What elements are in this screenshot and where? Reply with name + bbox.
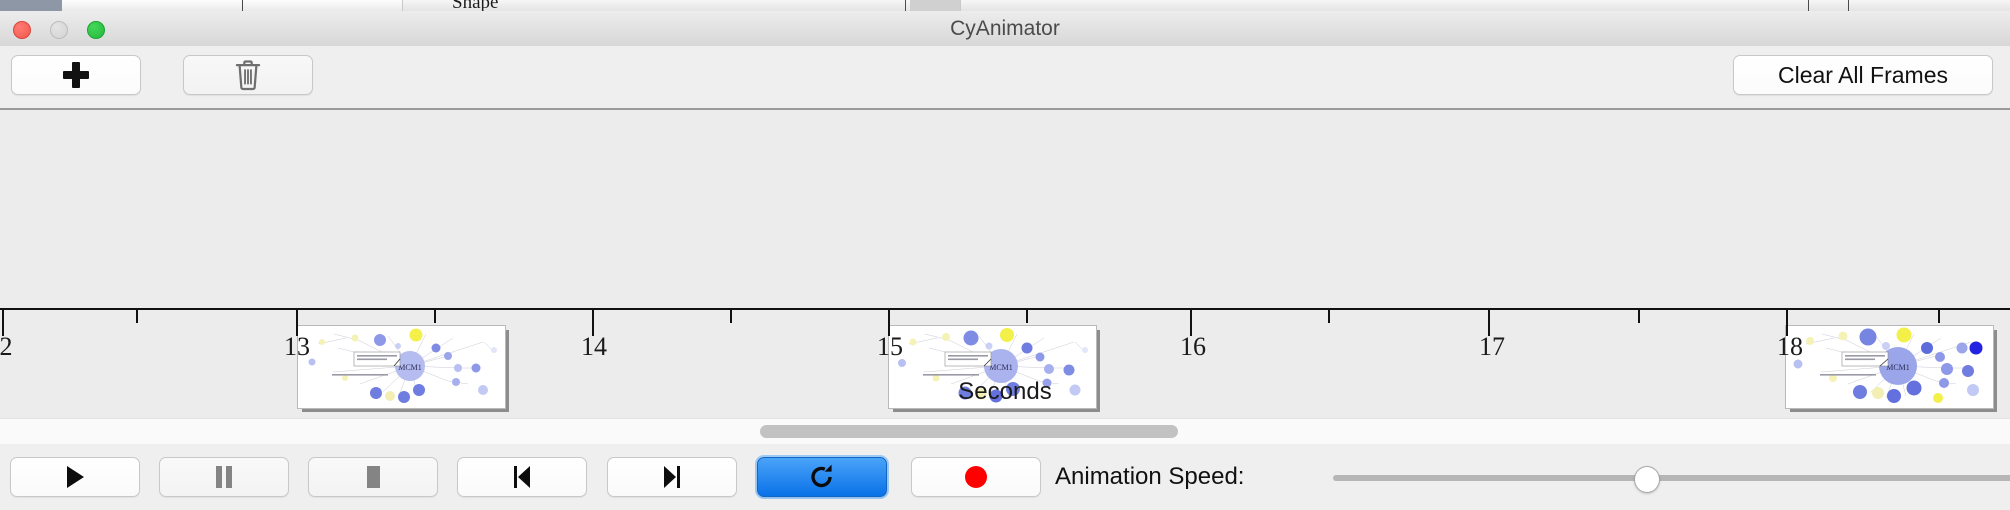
- delete-frame-button[interactable]: [183, 55, 313, 95]
- axis-tick-minor: [1026, 310, 1028, 323]
- loop-button[interactable]: [757, 457, 887, 497]
- axis-tick-minor: [1328, 310, 1330, 323]
- background-window-strip: Shape: [0, 0, 2010, 11]
- axis-label-16: 16: [1180, 332, 1206, 362]
- add-frame-button[interactable]: [11, 55, 141, 95]
- timeline-canvas[interactable]: MCM1: [0, 110, 2010, 419]
- axis-tick-minor: [434, 310, 436, 323]
- axis-tick-minor: [136, 310, 138, 323]
- animation-speed-slider[interactable]: [1333, 475, 2010, 481]
- axis-label-13: 13: [284, 332, 310, 362]
- svg-text:MCM1: MCM1: [398, 363, 422, 372]
- window-title: CyAnimator: [0, 11, 2010, 46]
- trash-icon: [233, 59, 263, 91]
- animation-speed-label: Animation Speed:: [1055, 457, 1244, 497]
- svg-text:MCM1: MCM1: [1886, 363, 1910, 372]
- stop-icon: [362, 464, 384, 490]
- axis-tick-minor: [1638, 310, 1640, 323]
- play-icon: [63, 464, 87, 490]
- skip-forward-icon: [660, 464, 684, 490]
- axis-label-15: 15: [877, 332, 903, 362]
- axis-label-18: 18: [1777, 332, 1803, 362]
- clear-all-frames-button[interactable]: Clear All Frames: [1733, 55, 1993, 95]
- pause-button[interactable]: [159, 457, 289, 497]
- loop-icon: [809, 463, 835, 491]
- axis-label-12: 2: [0, 332, 13, 362]
- skip-to-end-button[interactable]: [607, 457, 737, 497]
- svg-text:MCM1: MCM1: [989, 363, 1013, 372]
- timeline-scrollbar-thumb[interactable]: [760, 425, 1178, 438]
- cyanimator-window: Shape CyAnimator Clear All Frames: [0, 0, 2010, 510]
- record-icon: [963, 464, 989, 490]
- axis-tick-minor: [730, 310, 732, 323]
- clear-all-frames-label: Clear All Frames: [1778, 62, 1948, 89]
- skip-back-icon: [510, 464, 534, 490]
- slider-thumb[interactable]: [1634, 466, 1660, 493]
- play-button[interactable]: [10, 457, 140, 497]
- axis-title: Seconds: [0, 378, 2010, 406]
- axis-label-17: 17: [1479, 332, 1505, 362]
- axis-label-14: 14: [581, 332, 607, 362]
- timeline-axis: [0, 308, 2010, 310]
- skip-to-start-button[interactable]: [457, 457, 587, 497]
- title-bar: CyAnimator: [0, 11, 2010, 47]
- stop-button[interactable]: [308, 457, 438, 497]
- timeline-scrollbar[interactable]: [0, 418, 2010, 446]
- axis-tick-minor: [1938, 310, 1940, 323]
- slider-track: [1333, 475, 2010, 481]
- record-button[interactable]: [911, 457, 1041, 497]
- pause-icon: [213, 464, 235, 490]
- background-window-dark-panel: [0, 0, 62, 11]
- background-window-label: Shape: [452, 0, 498, 11]
- plus-icon: [63, 62, 89, 88]
